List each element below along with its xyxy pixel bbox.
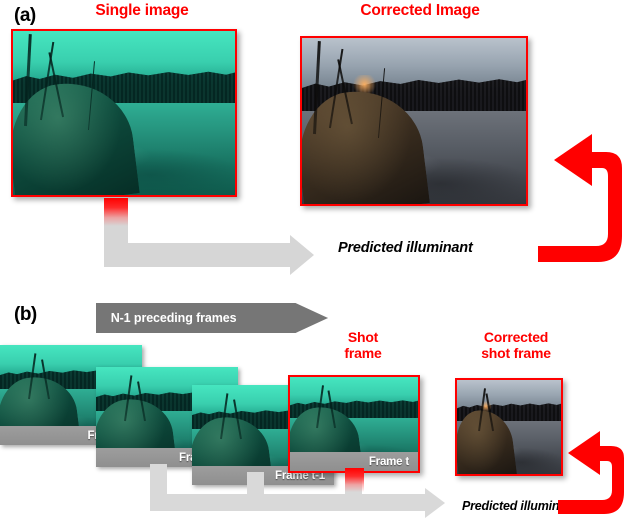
panel-a-predicted-illuminant-label: Predicted illuminant	[338, 240, 473, 256]
panel-a-input-image	[11, 29, 237, 197]
panel-a-input-heading: Single image	[52, 2, 232, 19]
panel-b-output-heading: Corrected shot frame	[455, 330, 577, 361]
panel-a-feedback-arrow	[536, 110, 638, 278]
panel-a-flow-arrow	[104, 203, 314, 267]
panel-a-output-heading: Corrected Image	[330, 2, 510, 19]
arrow-leg	[247, 472, 264, 496]
scene-corrected	[302, 38, 526, 204]
panel-b-illuminant-tab	[345, 468, 364, 492]
panel-b-flow-arrow	[150, 458, 455, 511]
arrow-head-icon	[290, 235, 314, 275]
panel-a-illuminant-tab	[104, 198, 128, 226]
panel-b-feedback-arrow	[556, 418, 640, 525]
panel-a-letter: (a)	[14, 5, 36, 27]
panel-b-output-image	[455, 378, 563, 476]
panel-b-preceding-frames-banner: N-1 preceding frames	[96, 303, 328, 333]
arrow-shaft	[150, 494, 425, 511]
arrow-leg	[150, 464, 167, 496]
arrow-shaft	[104, 243, 290, 267]
panel-b-shot-frame-heading: Shot frame	[322, 330, 404, 361]
panel-a-output-image	[300, 36, 528, 206]
panel-b-letter: (b)	[14, 304, 37, 326]
arrow-head-icon	[425, 488, 445, 518]
scene-uncorrected	[13, 31, 235, 195]
figure-root: (a) Single image Corrected Image	[0, 0, 640, 525]
scene-corrected	[457, 380, 561, 474]
